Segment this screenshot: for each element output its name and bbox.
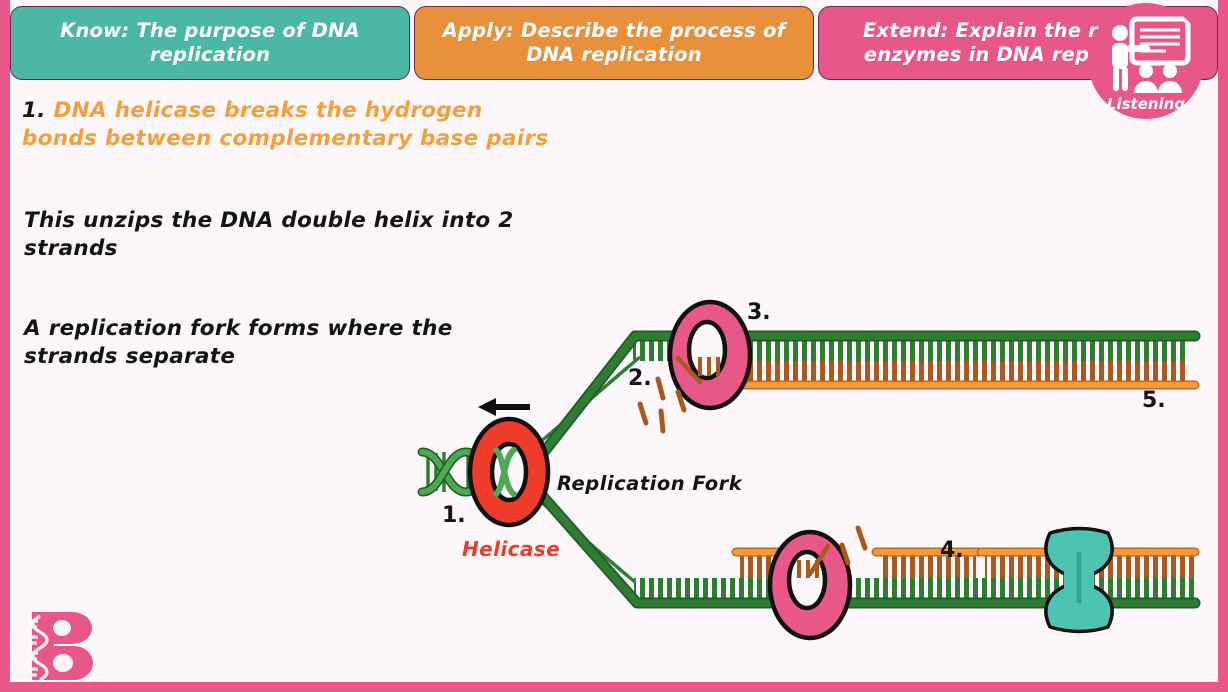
dna-b-logo bbox=[10, 610, 106, 682]
paragraph-unzip: This unzips the DNA double helix into 2 … bbox=[24, 207, 544, 264]
parental-dna-double-helix bbox=[422, 451, 537, 493]
paragraph-replication-fork: A replication fork forms where the stran… bbox=[24, 315, 494, 372]
dna-polymerase-lagging bbox=[770, 532, 850, 638]
dna-polymerase-leading bbox=[670, 302, 750, 408]
direction-arrow bbox=[478, 398, 530, 416]
diagram-label-1: 1. bbox=[442, 503, 466, 528]
helicase-label: Helicase bbox=[462, 537, 560, 561]
tab-apply[interactable]: Apply: Describe the process of DNA repli… bbox=[414, 6, 814, 80]
lagging-strand bbox=[539, 492, 1195, 603]
free-nucleotides bbox=[640, 379, 865, 563]
diagram-label-3: 3. bbox=[747, 300, 771, 325]
diagram-label-5: 5. bbox=[1142, 388, 1166, 413]
diagram-label-2: 2. bbox=[628, 366, 652, 391]
tab-know[interactable]: Know: The purpose of DNA replication bbox=[10, 6, 410, 80]
dna-ligase bbox=[1046, 529, 1112, 632]
step-1-number: 1. bbox=[22, 98, 46, 123]
replication-fork-label: Replication Fork bbox=[557, 472, 742, 495]
listening-badge: Listening bbox=[1088, 3, 1204, 119]
slide-canvas: Know: The purpose of DNA replication App… bbox=[10, 0, 1218, 682]
slide-frame: Know: The purpose of DNA replication App… bbox=[0, 0, 1228, 692]
step-1-text: DNA helicase breaks the hydrogen bonds b… bbox=[22, 98, 548, 151]
helicase-enzyme bbox=[470, 419, 548, 525]
leading-strand bbox=[537, 336, 1195, 461]
step-1-statement: 1. DNA helicase breaks the hydrogen bond… bbox=[22, 97, 562, 154]
diagram-label-4: 4. bbox=[940, 538, 964, 563]
listening-label: Listening bbox=[1088, 95, 1204, 113]
objective-tabs: Know: The purpose of DNA replication App… bbox=[10, 0, 1218, 80]
